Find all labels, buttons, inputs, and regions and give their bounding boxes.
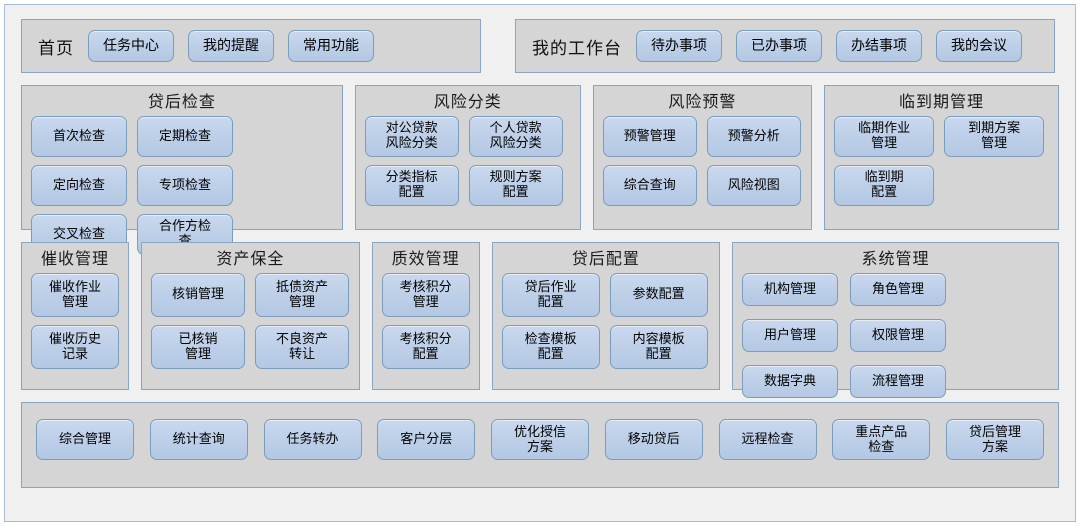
- panel-risk-classification: 风险分类 对公贷款 风险分类 个人贷款 风险分类 分类指标 配置 规则方案 配置: [355, 85, 581, 230]
- app-root: 首页 任务中心 我的提醒 常用功能 我的工作台 待办事项 已办事项 办结事项 我…: [4, 4, 1076, 522]
- button-comprehensive-management[interactable]: 综合管理: [36, 419, 134, 460]
- module-row-2: 催收管理 催收作业 管理 催收历史 记录 资产保全 核销管理 抵债资产 管理 已…: [21, 242, 1059, 390]
- nav-button-task-center[interactable]: 任务中心: [88, 30, 174, 62]
- button-written-off-management[interactable]: 已核销 管理: [151, 325, 245, 369]
- panel-title: 风险分类: [356, 86, 580, 116]
- home-nav-panel: 首页 任务中心 我的提醒 常用功能: [21, 19, 481, 73]
- button-collection-operation-management[interactable]: 催收作业 管理: [31, 273, 119, 317]
- button-warning-analysis[interactable]: 预警分析: [707, 116, 801, 157]
- home-label: 首页: [38, 34, 74, 59]
- button-post-loan-management-scheme[interactable]: 贷后管理 方案: [946, 419, 1044, 460]
- button-corporate-loan-risk-classification[interactable]: 对公贷款 风险分类: [365, 116, 459, 157]
- button-key-product-inspection[interactable]: 重点产品 检查: [832, 419, 930, 460]
- panel-button-grid: 考核积分 管理 考核积分 配置: [373, 273, 479, 378]
- panel-collection-management: 催收管理 催收作业 管理 催收历史 记录: [21, 242, 129, 390]
- panel-button-grid: 催收作业 管理 催收历史 记录: [22, 273, 128, 378]
- header-row: 首页 任务中心 我的提醒 常用功能 我的工作台 待办事项 已办事项 办结事项 我…: [21, 19, 1059, 73]
- button-user-management[interactable]: 用户管理: [742, 319, 838, 352]
- workbench-nav-panel: 我的工作台 待办事项 已办事项 办结事项 我的会议: [515, 19, 1055, 73]
- button-maturity-scheme-management[interactable]: 到期方案 管理: [944, 116, 1044, 157]
- button-post-loan-operation-config[interactable]: 贷后作业 配置: [502, 273, 600, 317]
- button-permission-management[interactable]: 权限管理: [850, 319, 946, 352]
- button-role-management[interactable]: 角色管理: [850, 273, 946, 306]
- button-content-template-config[interactable]: 内容模板 配置: [610, 325, 708, 369]
- panel-post-loan-config: 贷后配置 贷后作业 配置 参数配置 检查模板 配置 内容模板 配置: [492, 242, 720, 390]
- panel-title: 风险预警: [594, 86, 811, 116]
- button-inspection-template-config[interactable]: 检查模板 配置: [502, 325, 600, 369]
- button-statistical-query[interactable]: 统计查询: [150, 419, 248, 460]
- button-maturity-config[interactable]: 临到期 配置: [834, 165, 934, 206]
- panel-system-management: 系统管理 机构管理 角色管理 用户管理 权限管理 数据字典 流程管理: [732, 242, 1059, 390]
- button-rule-scheme-config[interactable]: 规则方案 配置: [469, 165, 563, 206]
- nav-button-common-functions[interactable]: 常用功能: [288, 30, 374, 62]
- button-warning-management[interactable]: 预警管理: [603, 116, 697, 157]
- panel-button-grid: 核销管理 抵债资产 管理 已核销 管理 不良资产 转让: [142, 273, 359, 378]
- panel-button-grid: 临期作业 管理 到期方案 管理 临到期 配置: [825, 116, 1058, 215]
- button-first-inspection[interactable]: 首次检查: [31, 116, 127, 157]
- nav-button-completed-items[interactable]: 办结事项: [836, 30, 922, 62]
- panel-quality-efficiency-management: 质效管理 考核积分 管理 考核积分 配置: [372, 242, 480, 390]
- button-parameter-config[interactable]: 参数配置: [610, 273, 708, 317]
- panel-risk-early-warning: 风险预警 预警管理 预警分析 综合查询 风险视图: [593, 85, 812, 230]
- panel-asset-preservation: 资产保全 核销管理 抵债资产 管理 已核销 管理 不良资产 转让: [141, 242, 360, 390]
- panel-extra-functions: 综合管理 统计查询 任务转办 客户分层 优化授信 方案 移动贷后 远程检查 重点…: [21, 402, 1059, 488]
- button-collection-history-records[interactable]: 催收历史 记录: [31, 325, 119, 369]
- button-task-transfer[interactable]: 任务转办: [264, 419, 362, 460]
- button-comprehensive-query[interactable]: 综合查询: [603, 165, 697, 206]
- workbench-label: 我的工作台: [532, 34, 622, 59]
- button-special-inspection[interactable]: 专项检查: [137, 165, 233, 206]
- panel-button-grid: 预警管理 预警分析 综合查询 风险视图: [594, 116, 811, 215]
- panel-title: 质效管理: [373, 243, 479, 273]
- button-assessment-points-management[interactable]: 考核积分 管理: [382, 273, 470, 317]
- button-assessment-points-config[interactable]: 考核积分 配置: [382, 325, 470, 369]
- nav-button-my-meetings[interactable]: 我的会议: [936, 30, 1022, 62]
- panel-button-grid: 机构管理 角色管理 用户管理 权限管理 数据字典 流程管理: [733, 273, 1058, 407]
- panel-title: 贷后检查: [22, 86, 342, 116]
- panel-maturity-management: 临到期管理 临期作业 管理 到期方案 管理 临到期 配置: [824, 85, 1059, 230]
- panel-title: 系统管理: [733, 243, 1058, 273]
- button-debt-paying-asset-management[interactable]: 抵债资产 管理: [255, 273, 349, 317]
- button-organization-management[interactable]: 机构管理: [742, 273, 838, 306]
- button-process-management[interactable]: 流程管理: [850, 365, 946, 398]
- panel-button-grid: 综合管理 统计查询 任务转办 客户分层 优化授信 方案 移动贷后 远程检查 重点…: [22, 403, 1058, 474]
- nav-button-done-items[interactable]: 已办事项: [736, 30, 822, 62]
- panel-title: 临到期管理: [825, 86, 1058, 116]
- panel-button-grid: 贷后作业 配置 参数配置 检查模板 配置 内容模板 配置: [493, 273, 719, 378]
- button-optimized-credit-scheme[interactable]: 优化授信 方案: [491, 419, 589, 460]
- nav-button-todo-items[interactable]: 待办事项: [636, 30, 722, 62]
- button-mobile-post-loan[interactable]: 移动贷后: [605, 419, 703, 460]
- panel-button-grid: 对公贷款 风险分类 个人贷款 风险分类 分类指标 配置 规则方案 配置: [356, 116, 580, 215]
- panel-title: 贷后配置: [493, 243, 719, 273]
- module-row-3: 综合管理 统计查询 任务转办 客户分层 优化授信 方案 移动贷后 远程检查 重点…: [21, 402, 1059, 488]
- button-risk-view[interactable]: 风险视图: [707, 165, 801, 206]
- button-targeted-inspection[interactable]: 定向检查: [31, 165, 127, 206]
- button-writeoff-management[interactable]: 核销管理: [151, 273, 245, 317]
- button-remote-inspection[interactable]: 远程检查: [719, 419, 817, 460]
- module-row-1: 贷后检查 首次检查 定期检查 定向检查 专项检查 交叉检查 合作方检 查 风险分…: [21, 85, 1059, 230]
- button-customer-stratification[interactable]: 客户分层: [377, 419, 475, 460]
- button-npl-transfer[interactable]: 不良资产 转让: [255, 325, 349, 369]
- button-personal-loan-risk-classification[interactable]: 个人贷款 风险分类: [469, 116, 563, 157]
- button-classification-indicator-config[interactable]: 分类指标 配置: [365, 165, 459, 206]
- panel-title: 资产保全: [142, 243, 359, 273]
- button-pre-maturity-operation-management[interactable]: 临期作业 管理: [834, 116, 934, 157]
- panel-post-loan-inspection: 贷后检查 首次检查 定期检查 定向检查 专项检查 交叉检查 合作方检 查: [21, 85, 343, 230]
- button-data-dictionary[interactable]: 数据字典: [742, 365, 838, 398]
- nav-button-my-reminders[interactable]: 我的提醒: [188, 30, 274, 62]
- panel-title: 催收管理: [22, 243, 128, 273]
- button-periodic-inspection[interactable]: 定期检查: [137, 116, 233, 157]
